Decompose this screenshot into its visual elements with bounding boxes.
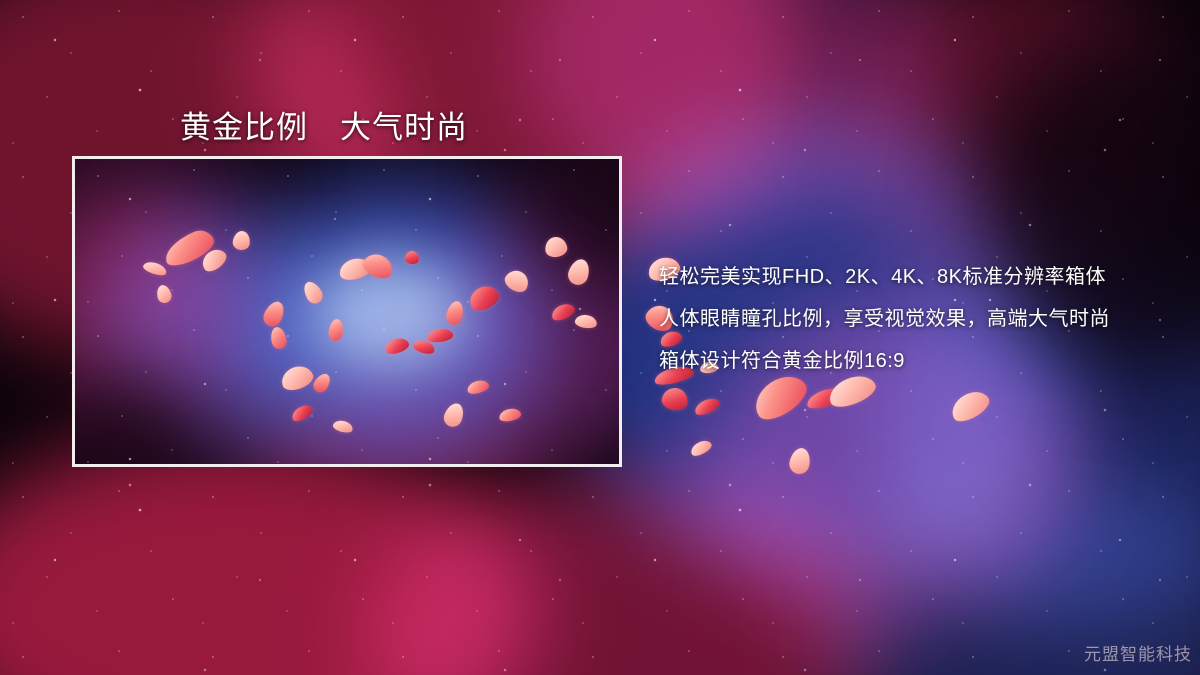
photo-starfield-medium (75, 159, 619, 464)
description-line-2: 人体眼睛瞳孔比例，享受视觉效果，高端大气时尚 (659, 298, 1179, 340)
description-line-3: 箱体设计符合黄金比例16:9 (659, 340, 1179, 382)
description-line-1: 轻松完美实现FHD、2K、4K、8K标准分辨率箱体 (659, 256, 1179, 298)
feature-description: 轻松完美实现FHD、2K、4K、8K标准分辨率箱体 人体眼睛瞳孔比例，享受视觉效… (659, 256, 1179, 382)
galaxy-photo-frame (72, 156, 622, 467)
page-title: 黄金比例 大气时尚 (180, 102, 468, 147)
presentation-slide: 黄金比例 大气时尚 (0, 0, 1200, 675)
brand-watermark: 元盟智能科技 (1084, 640, 1192, 665)
galaxy-photo-image (75, 159, 619, 464)
